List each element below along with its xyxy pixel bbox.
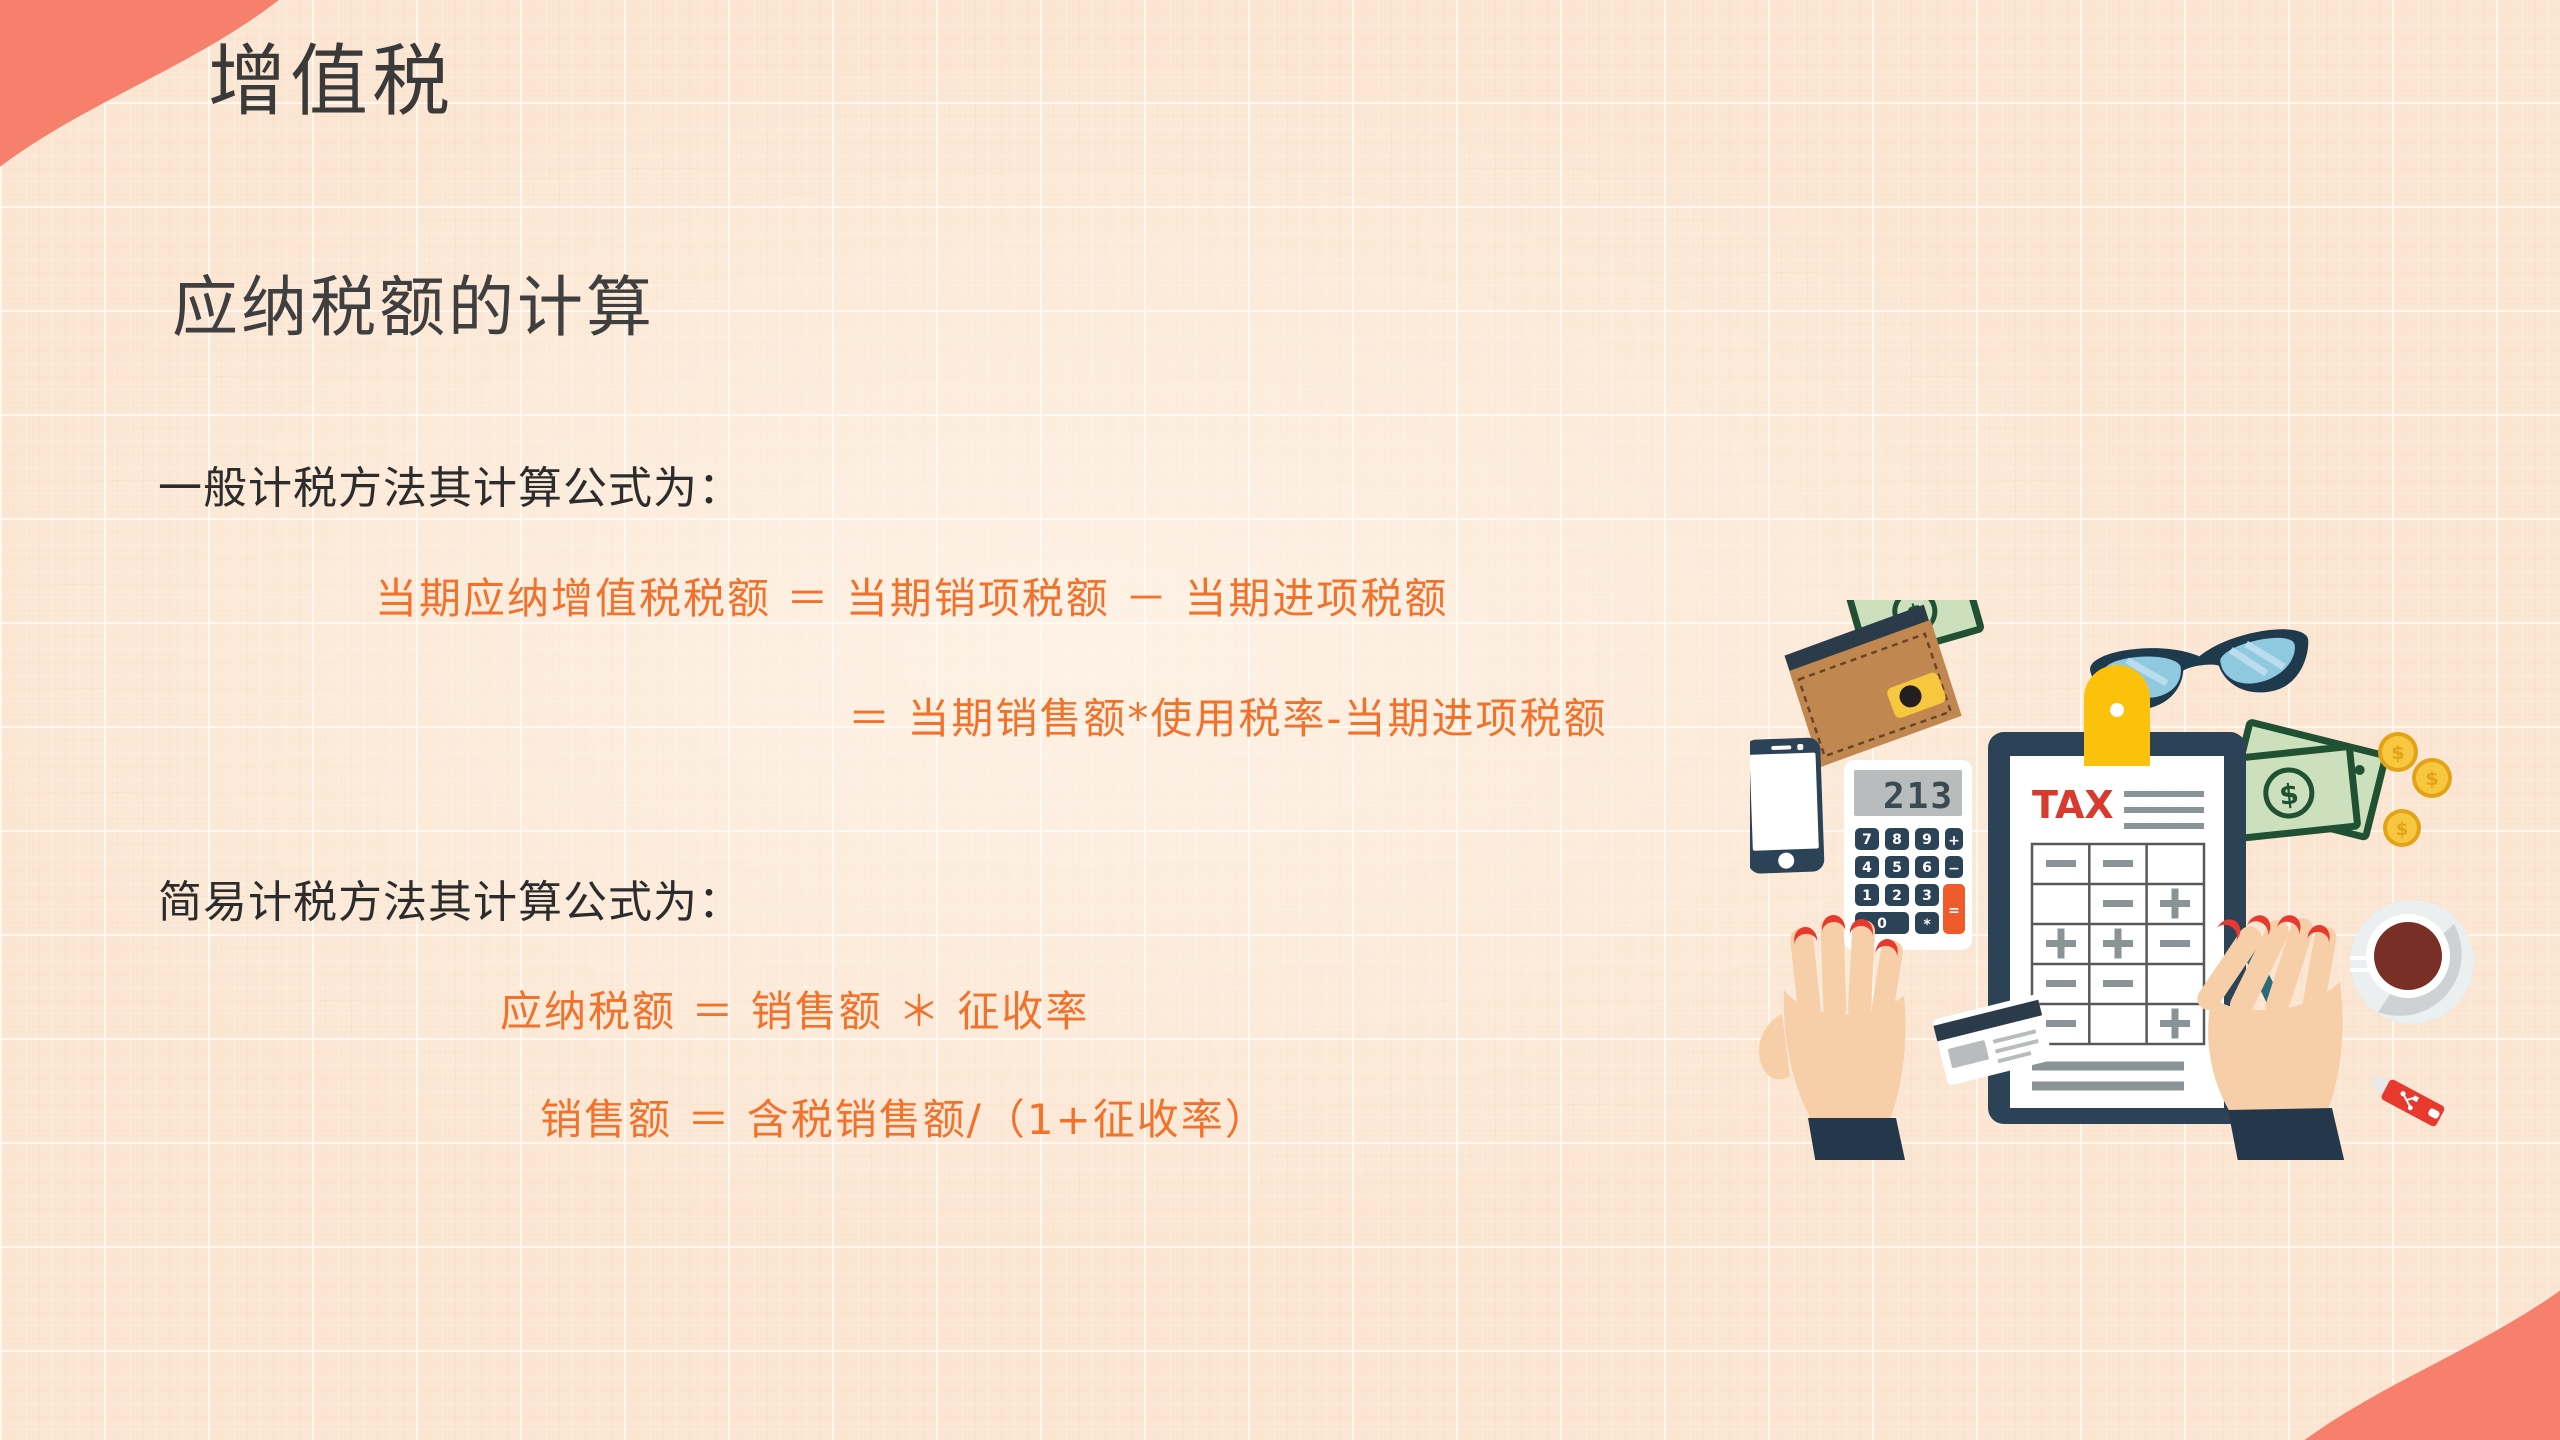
svg-text:9: 9	[1922, 832, 1932, 848]
svg-text:7: 7	[1862, 832, 1872, 848]
calculator-display-value: 213	[1883, 776, 1954, 817]
svg-text:=: =	[1948, 903, 1960, 919]
svg-text:8: 8	[1892, 832, 1902, 848]
svg-text:3: 3	[1922, 888, 1932, 904]
svg-text:6: 6	[1922, 860, 1932, 876]
tax-desk-illustration: $ $	[1750, 600, 2510, 1160]
clipboard-tax-heading: TAX	[2032, 783, 2114, 827]
simple-formula-line-2: 销售额 ＝ 含税销售额/（1+征收率）	[540, 1086, 1269, 1147]
svg-text:1: 1	[1862, 888, 1872, 904]
general-formula-line-1: 当期应纳增值税税额 ＝ 当期销项税额 － 当期进项税额	[375, 565, 1448, 626]
simple-formula-line-1: 应纳税额 ＝ 销售额 ＊ 征收率	[500, 978, 1089, 1039]
svg-text:0: 0	[1877, 916, 1887, 932]
page-title: 增值税	[208, 38, 454, 128]
general-method-label: 一般计税方法其计算公式为：	[158, 452, 743, 516]
svg-text:$: $	[2391, 742, 2404, 764]
svg-text:$: $	[2278, 777, 2301, 812]
svg-text:$: $	[2425, 768, 2438, 790]
coin-icon: $	[2378, 732, 2418, 772]
smartphone-icon	[1750, 737, 1825, 874]
hand-icon	[1759, 915, 1908, 1160]
slide-root: 增值税 应纳税额的计算 一般计税方法其计算公式为： 当期应纳增值税税额 ＝ 当期…	[0, 0, 2560, 1440]
simple-method-label: 简易计税方法其计算公式为：	[158, 866, 743, 930]
coin-icon: $	[2412, 758, 2452, 798]
svg-text:2: 2	[1892, 888, 1902, 904]
usb-drive-icon	[2368, 1072, 2446, 1128]
svg-text:−: −	[1948, 861, 1960, 877]
coin-icon: $	[2383, 809, 2421, 847]
svg-text:5: 5	[1892, 860, 1902, 876]
svg-text:4: 4	[1862, 860, 1872, 876]
svg-text:*: *	[1923, 917, 1931, 933]
general-formula-line-2: ＝ 当期销售额*使用税率-当期进项税额	[848, 685, 1608, 746]
page-subtitle: 应纳税额的计算	[172, 272, 655, 345]
svg-text:+: +	[1948, 833, 1960, 849]
svg-text:$: $	[2396, 819, 2409, 840]
coffee-cup-icon	[2350, 900, 2474, 1024]
